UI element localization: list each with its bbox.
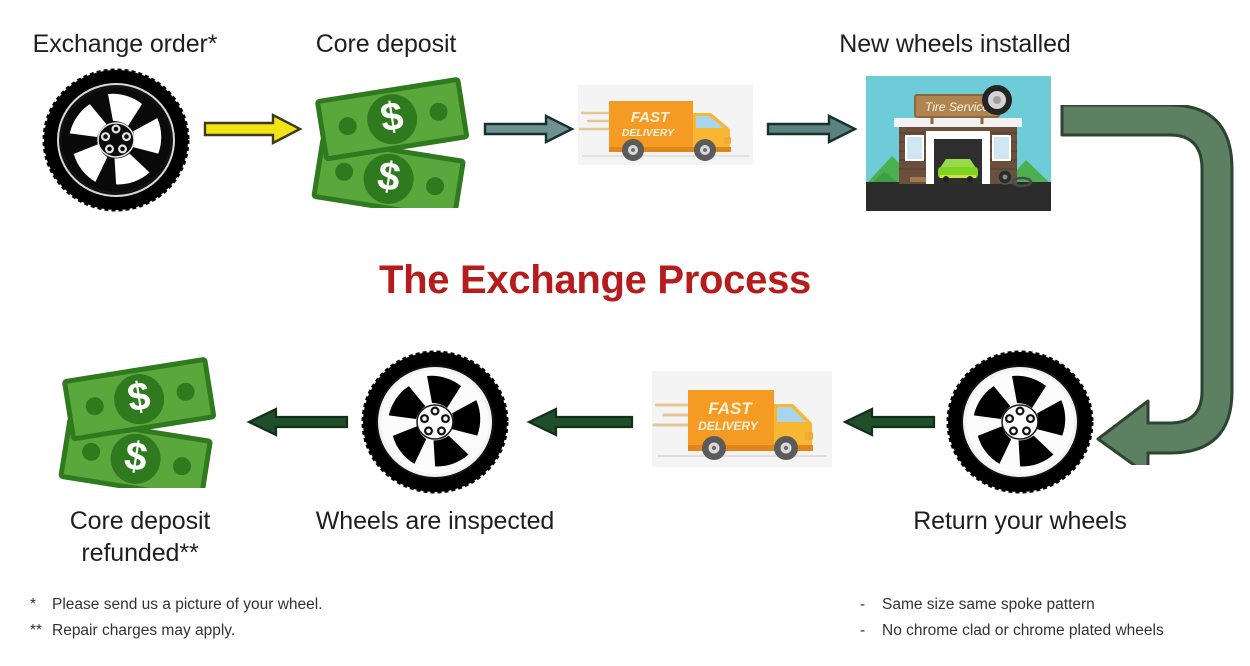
step-label-line-2: refunded** bbox=[81, 539, 198, 567]
delivery-truck-icon: FAST DELIVERY bbox=[652, 371, 832, 467]
footnote-text: No chrome clad or chrome plated wheels bbox=[882, 622, 1164, 639]
arrow-2-icon bbox=[483, 112, 575, 151]
footnote-left-1: *Please send us a picture of your wheel. bbox=[30, 592, 323, 618]
footnote-mark: - bbox=[860, 618, 882, 644]
truck-primary-text: FAST bbox=[708, 399, 753, 418]
wheel-icon bbox=[355, 348, 515, 496]
wheel-icon bbox=[940, 348, 1100, 496]
step-label-return-your-wheels: Return your wheels bbox=[880, 505, 1160, 537]
step-label-exchange-order: Exchange order* bbox=[0, 28, 250, 60]
footnote-right-1: -Same size same spoke pattern bbox=[860, 592, 1164, 618]
page-title: The Exchange Process bbox=[275, 258, 915, 303]
step-label-new-wheels-installed: New wheels installed bbox=[790, 28, 1120, 60]
arrow-3-icon bbox=[766, 112, 858, 151]
footnote-text: Please send us a picture of your wheel. bbox=[52, 596, 323, 613]
truck-secondary-text: DELIVERY bbox=[698, 419, 759, 433]
step-label-wheels-are-inspected: Wheels are inspected bbox=[295, 505, 575, 537]
shop-sign-text: Tire Service bbox=[925, 100, 989, 114]
money-icon: $ $ bbox=[305, 68, 480, 213]
tire-service-shop-icon: Tire Service bbox=[866, 76, 1051, 211]
footnote-mark: ** bbox=[30, 618, 52, 644]
footnote-mark: - bbox=[860, 592, 882, 618]
step-label-core-deposit: Core deposit bbox=[286, 28, 486, 60]
delivery-truck-icon: FAST DELIVERY bbox=[578, 85, 753, 165]
arrow-6-icon bbox=[840, 405, 936, 444]
truck-primary-text: FAST bbox=[631, 109, 671, 126]
footnotes-left: *Please send us a picture of your wheel.… bbox=[30, 592, 323, 643]
footnote-text: Repair charges may apply. bbox=[52, 622, 235, 639]
footnote-mark: * bbox=[30, 592, 52, 618]
money-icon: $ $ bbox=[52, 348, 227, 493]
step-label-line-1: Core deposit bbox=[70, 507, 211, 535]
wheel-icon bbox=[36, 66, 196, 214]
footnote-text: Same size same spoke pattern bbox=[882, 596, 1095, 613]
footnotes-right: -Same size same spoke pattern -No chrome… bbox=[860, 592, 1164, 643]
step-label-core-deposit-refunded: Core deposit refunded** bbox=[20, 505, 260, 569]
arrow-1-icon bbox=[203, 112, 303, 151]
arrow-4-icon bbox=[244, 405, 349, 444]
footnote-left-2: **Repair charges may apply. bbox=[30, 618, 323, 644]
exchange-process-diagram: Exchange order* bbox=[0, 0, 1250, 666]
arrow-5-icon bbox=[524, 405, 634, 444]
truck-secondary-text: DELIVERY bbox=[622, 127, 675, 139]
footnote-right-2: -No chrome clad or chrome plated wheels bbox=[860, 618, 1164, 644]
